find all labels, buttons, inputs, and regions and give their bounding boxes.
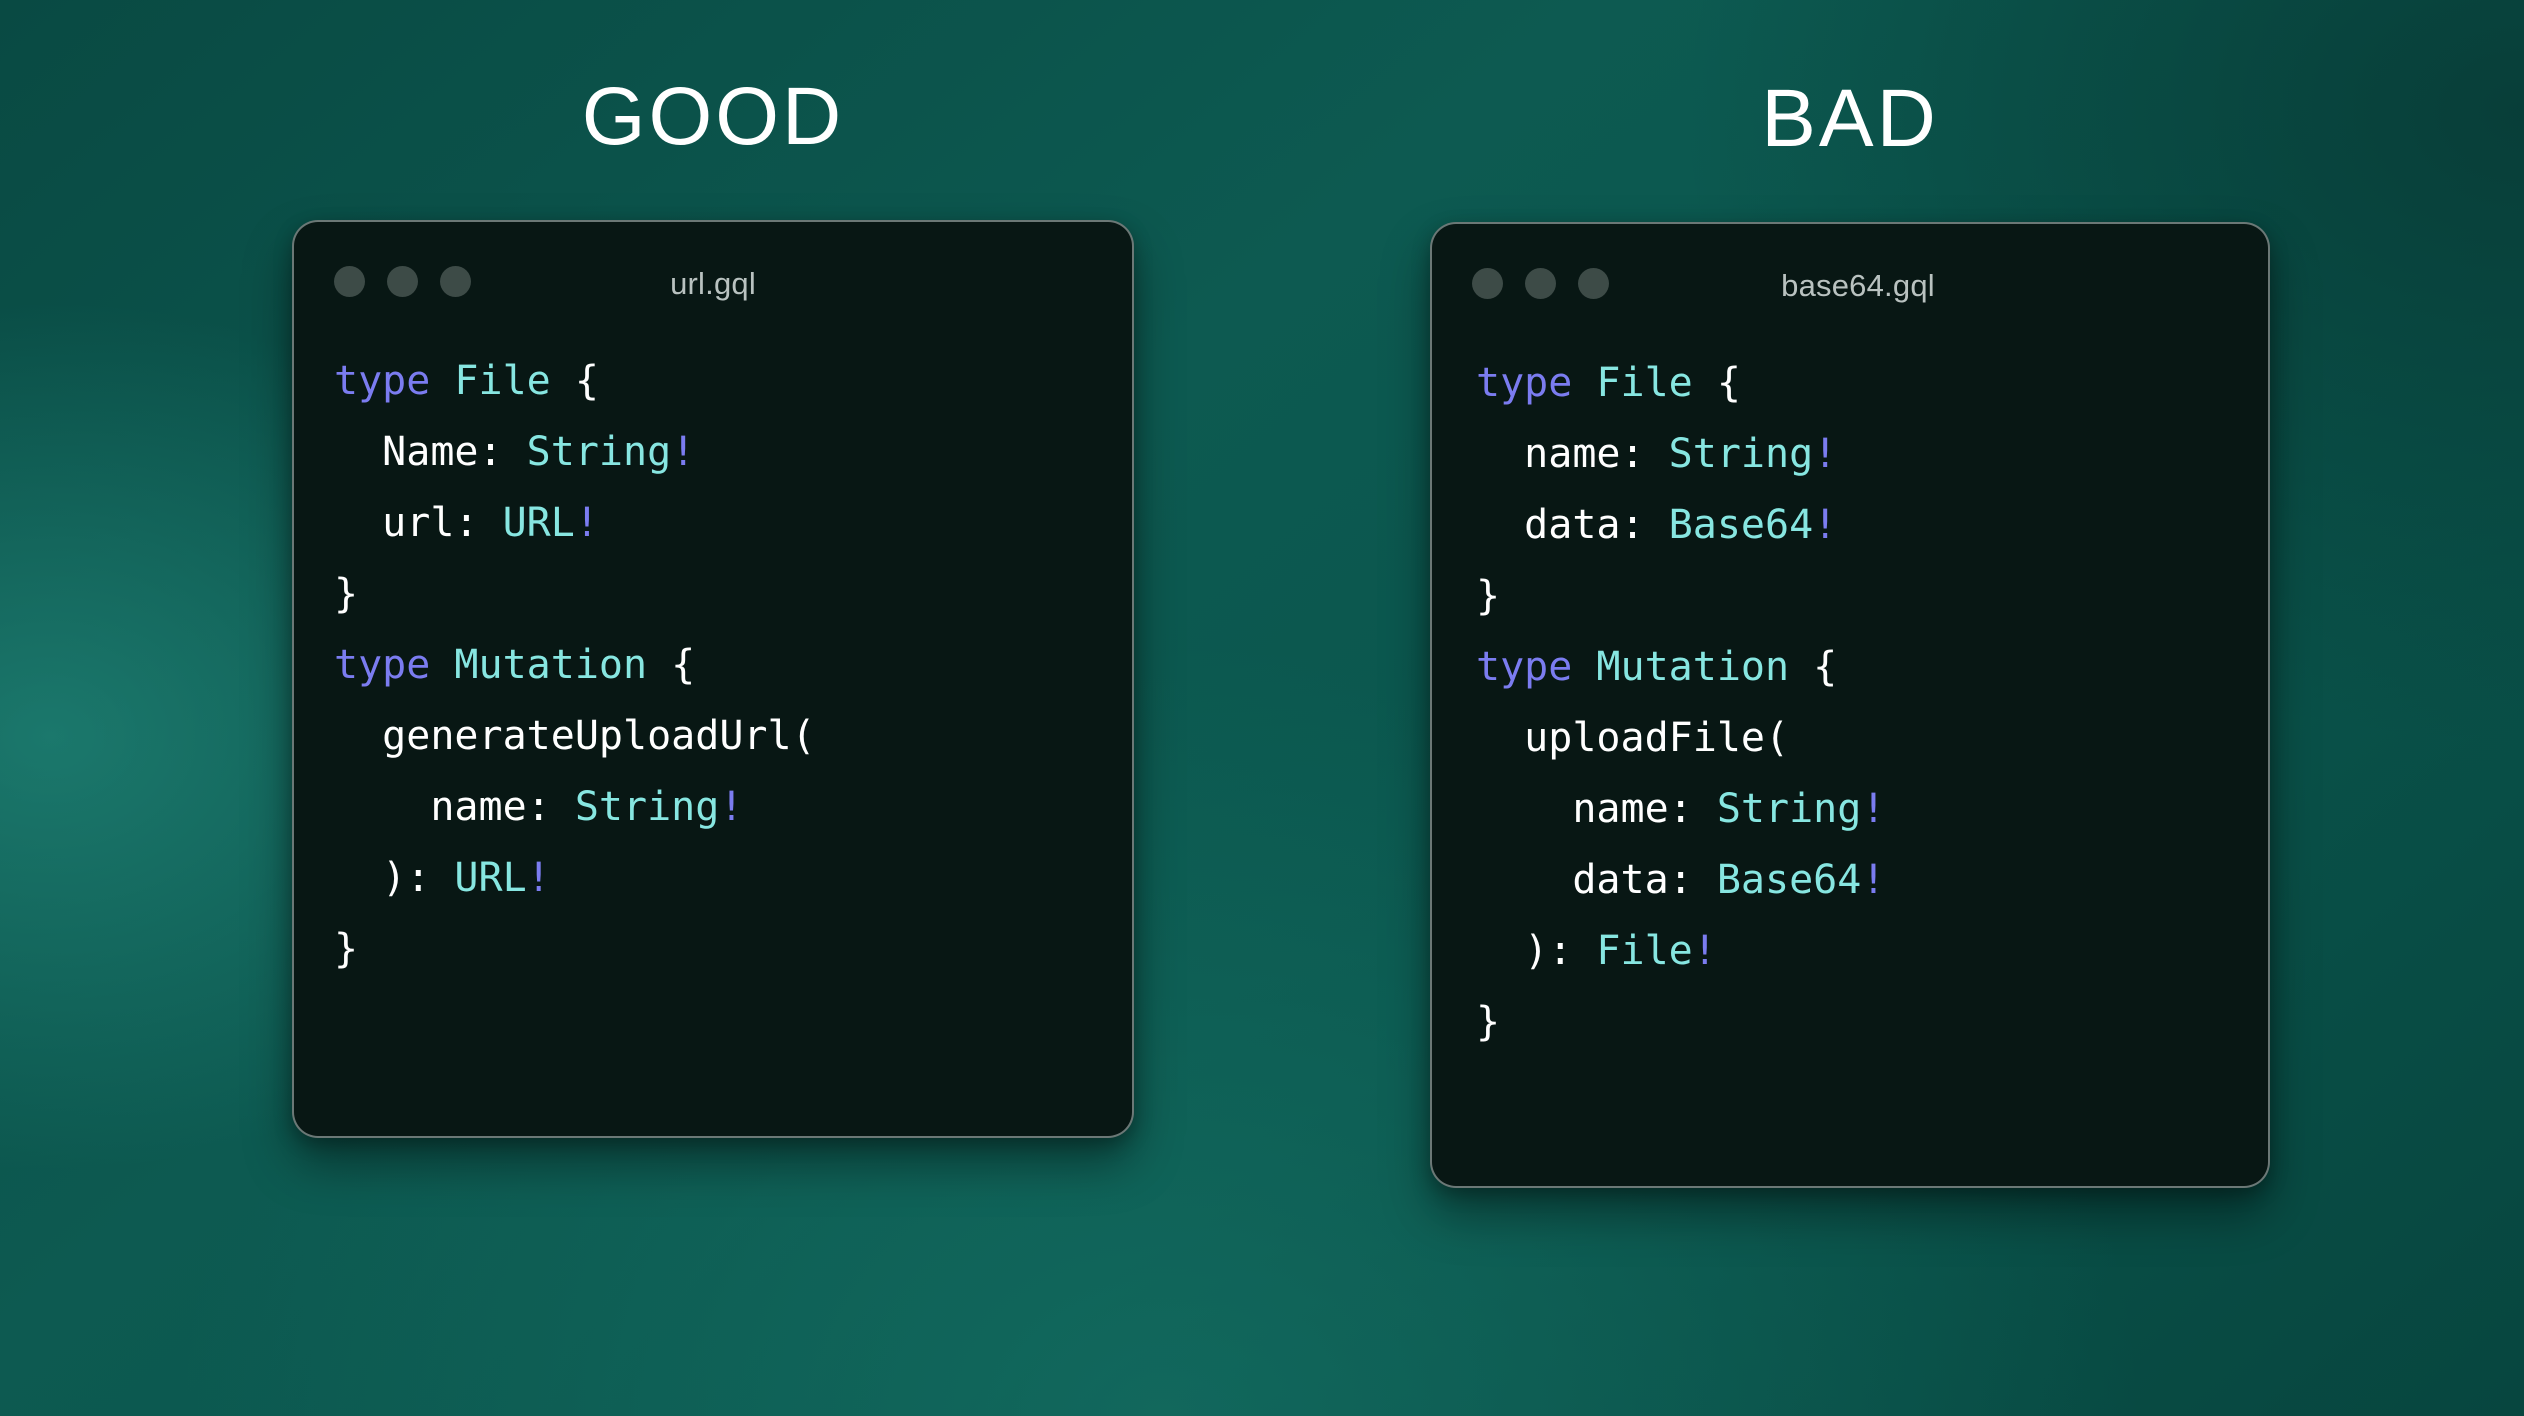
column-title-good: GOOD: [292, 76, 1134, 158]
code-token-type: String: [575, 784, 720, 830]
code-token-punct: {: [551, 358, 599, 404]
code-line: data: Base64!: [1476, 845, 2268, 916]
code-token-plain: name: [334, 784, 527, 830]
code-token-punct: {: [1693, 360, 1741, 406]
code-line: name: String!: [1476, 774, 2268, 845]
code-token-bang: !: [1861, 786, 1885, 832]
code-token-type: String: [1717, 786, 1862, 832]
code-line: url: URL!: [334, 488, 1132, 559]
code-token-type: File: [1596, 928, 1692, 974]
code-token-plain: name: [1476, 786, 1669, 832]
code-line: name: String!: [334, 772, 1132, 843]
code-token-bang: !: [527, 855, 551, 901]
code-token-plain: :: [479, 429, 527, 475]
code-token-plain: [430, 358, 454, 404]
code-line: }: [334, 559, 1132, 630]
code-token-kw: type: [334, 358, 430, 404]
code-token-type: String: [1669, 431, 1814, 477]
code-line: }: [1476, 987, 2268, 1058]
window-titlebar-bad: base64.gql: [1432, 224, 2268, 316]
code-token-bang: !: [671, 429, 695, 475]
code-token-plain: ):: [334, 855, 454, 901]
code-token-bang: !: [1693, 928, 1717, 974]
window-titlebar-good: url.gql: [294, 222, 1132, 314]
code-token-type: URL: [503, 500, 575, 546]
code-window-good: url.gql type File { Name: String! url: U…: [292, 220, 1134, 1138]
code-token-type: Base64: [1669, 502, 1814, 548]
code-token-plain: :: [1621, 502, 1669, 548]
code-token-plain: [1572, 360, 1596, 406]
code-line: ): URL!: [334, 843, 1132, 914]
code-token-punct: }: [1476, 573, 1500, 619]
code-token-kw: type: [334, 642, 430, 688]
code-token-bang: !: [1813, 502, 1837, 548]
code-token-plain: :: [1621, 431, 1669, 477]
code-token-kw: type: [1476, 644, 1572, 690]
code-line: generateUploadUrl(: [334, 701, 1132, 772]
code-token-plain: name: [1476, 431, 1621, 477]
code-line: }: [334, 914, 1132, 985]
code-token-punct: {: [1789, 644, 1837, 690]
code-token-plain: ):: [1476, 928, 1596, 974]
code-token-bang: !: [1813, 431, 1837, 477]
code-token-plain: :: [454, 500, 502, 546]
code-token-bang: !: [575, 500, 599, 546]
code-token-type: File: [1596, 360, 1692, 406]
code-token-type: String: [527, 429, 672, 475]
code-line: uploadFile(: [1476, 703, 2268, 774]
code-token-bang: !: [1861, 857, 1885, 903]
code-line: type File {: [1476, 348, 2268, 419]
code-token-type: Mutation: [454, 642, 647, 688]
code-token-punct: }: [334, 926, 358, 972]
code-token-plain: :: [527, 784, 575, 830]
code-token-plain: uploadFile(: [1476, 715, 1789, 761]
code-token-plain: :: [1669, 786, 1717, 832]
code-token-plain: Name: [334, 429, 479, 475]
code-block-bad: type File { name: String! data: Base64!}…: [1432, 316, 2268, 1058]
code-token-punct: }: [1476, 999, 1500, 1045]
code-token-plain: generateUploadUrl(: [334, 713, 816, 759]
code-token-type: File: [454, 358, 550, 404]
column-title-bad: BAD: [1430, 78, 2270, 160]
code-line: type Mutation {: [334, 630, 1132, 701]
code-token-plain: data: [1476, 857, 1669, 903]
code-token-type: Mutation: [1596, 644, 1789, 690]
code-window-bad: base64.gql type File { name: String! dat…: [1430, 222, 2270, 1188]
code-token-punct: }: [334, 571, 358, 617]
code-block-good: type File { Name: String! url: URL!}type…: [294, 314, 1132, 985]
code-token-punct: {: [647, 642, 695, 688]
code-line: type Mutation {: [1476, 632, 2268, 703]
window-filename-bad: base64.gql: [1432, 268, 2268, 304]
code-line: type File {: [334, 346, 1132, 417]
code-token-type: URL: [454, 855, 526, 901]
code-line: name: String!: [1476, 419, 2268, 490]
code-token-plain: [1572, 644, 1596, 690]
window-filename-good: url.gql: [294, 266, 1132, 302]
code-token-bang: !: [719, 784, 743, 830]
code-token-kw: type: [1476, 360, 1572, 406]
code-token-plain: [430, 642, 454, 688]
code-line: }: [1476, 561, 2268, 632]
code-token-plain: url: [334, 500, 454, 546]
code-token-plain: data: [1476, 502, 1621, 548]
code-token-plain: :: [1669, 857, 1717, 903]
code-line: Name: String!: [334, 417, 1132, 488]
code-token-type: Base64: [1717, 857, 1862, 903]
comparison-stage: GOOD url.gql type File { Name: String! u…: [0, 0, 2524, 1416]
code-line: ): File!: [1476, 916, 2268, 987]
code-line: data: Base64!: [1476, 490, 2268, 561]
